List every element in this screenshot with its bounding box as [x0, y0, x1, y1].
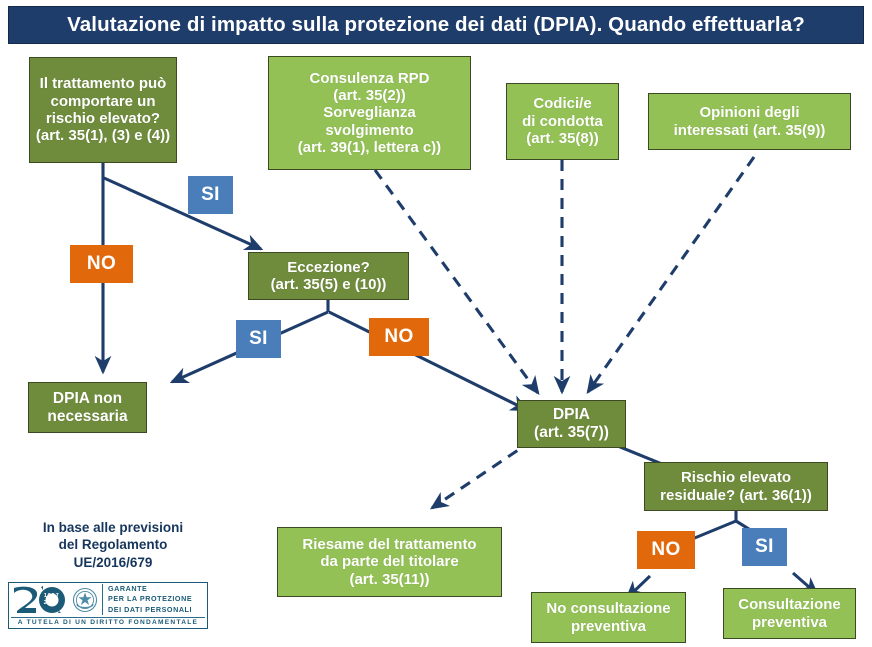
- edge-opinioni-to-dpia-dashed: [588, 157, 754, 392]
- node-rischio-elevato[interactable]: Il trattamento può comportare un rischio…: [29, 57, 177, 163]
- edge-label-si-eccezione-nonnecessaria: SI: [236, 320, 281, 358]
- logo-main-row: 1997 2017 GARANTE PER LA PROTEZIONE DEI …: [9, 583, 207, 616]
- node-dpia-non-necessaria-label: DPIA non necessaria: [33, 390, 142, 426]
- edge-label-no-residuale-noconsultazione: NO: [637, 531, 695, 569]
- node-dpia-label: DPIA (art. 35(7)): [522, 406, 621, 442]
- node-no-consultazione[interactable]: No consultazione preventiva: [531, 592, 686, 643]
- logo-year-from: 1997: [38, 593, 65, 600]
- logo-name-line-2: PER LA PROTEZIONE: [108, 594, 192, 604]
- footnote-line-2: del Regolamento: [10, 536, 216, 553]
- node-codici-condotta[interactable]: Codici/e di condotta (art. 35(8)): [506, 83, 619, 160]
- edge-si-rischio-to-eccezione: [104, 178, 261, 249]
- logo-tagline: A TUTELA DI UN DIRITTO FONDAMENTALE: [11, 617, 205, 626]
- logo-name-line-3: DEI DATI PERSONALI: [108, 605, 192, 615]
- node-eccezione[interactable]: Eccezione? (art. 35(5) e (10)): [248, 252, 409, 300]
- node-riesame-label: Riesame del trattamento da parte del tit…: [282, 536, 497, 588]
- node-consulenza-rpd-label: Consulenza RPD (art. 35(2)) Sorveglianza…: [273, 70, 466, 157]
- node-rischio-residuale[interactable]: Rischio elevato residuale? (art. 36(1)): [644, 462, 828, 511]
- page-title-banner: Valutazione di impatto sulla protezione …: [8, 6, 864, 44]
- node-codici-condotta-label: Codici/e di condotta (art. 35(8)): [511, 95, 614, 147]
- footnote-line-1: In base alle previsioni: [10, 519, 216, 536]
- footnote-line-3: UE/2016/679: [10, 554, 216, 571]
- node-no-consultazione-label: No consultazione preventiva: [536, 600, 681, 635]
- edge-label-no-rischio-nonnecessaria: NO: [70, 245, 133, 283]
- node-dpia-non-necessaria[interactable]: DPIA non necessaria: [28, 382, 147, 433]
- node-rischio-residuale-label: Rischio elevato residuale? (art. 36(1)): [649, 469, 823, 504]
- edge-dpia-to-riesame-dashed: [432, 440, 533, 508]
- logo-name-line-1: GARANTE: [108, 584, 192, 594]
- node-consultazione-label: Consultazione preventiva: [728, 596, 851, 631]
- republic-emblem-icon: [72, 586, 98, 614]
- page-title: Valutazione di impatto sulla protezione …: [67, 13, 805, 37]
- logo-wordmark: GARANTE PER LA PROTEZIONE DEI DATI PERSO…: [102, 584, 192, 615]
- logo-anniversary-mark: 1997 2017: [12, 586, 70, 614]
- edge-label-si-rischio-eccezione: SI: [188, 176, 233, 214]
- edge-label-si-residuale-consultazione: SI: [742, 528, 787, 566]
- node-opinioni-interessati-label: Opinioni degli interessati (art. 35(9)): [653, 104, 846, 139]
- footnote-text: In base alle previsioni del Regolamento …: [10, 519, 216, 571]
- node-eccezione-label: Eccezione? (art. 35(5) e (10)): [253, 259, 404, 294]
- node-opinioni-interessati[interactable]: Opinioni degli interessati (art. 35(9)): [648, 93, 851, 150]
- logo-years: 1997 2017: [38, 593, 65, 607]
- node-riesame[interactable]: Riesame del trattamento da parte del tit…: [277, 527, 502, 597]
- node-rischio-elevato-label: Il trattamento può comportare un rischio…: [34, 75, 172, 145]
- edge-label-no-eccezione-dpia: NO: [369, 318, 429, 356]
- flowchart-canvas: Valutazione di impatto sulla protezione …: [0, 0, 872, 647]
- node-consultazione[interactable]: Consultazione preventiva: [723, 588, 856, 639]
- garante-logo: 1997 2017 GARANTE PER LA PROTEZIONE DEI …: [8, 582, 208, 629]
- node-consulenza-rpd[interactable]: Consulenza RPD (art. 35(2)) Sorveglianza…: [268, 56, 471, 170]
- node-dpia[interactable]: DPIA (art. 35(7)): [517, 400, 626, 448]
- logo-year-to: 2017: [38, 600, 65, 607]
